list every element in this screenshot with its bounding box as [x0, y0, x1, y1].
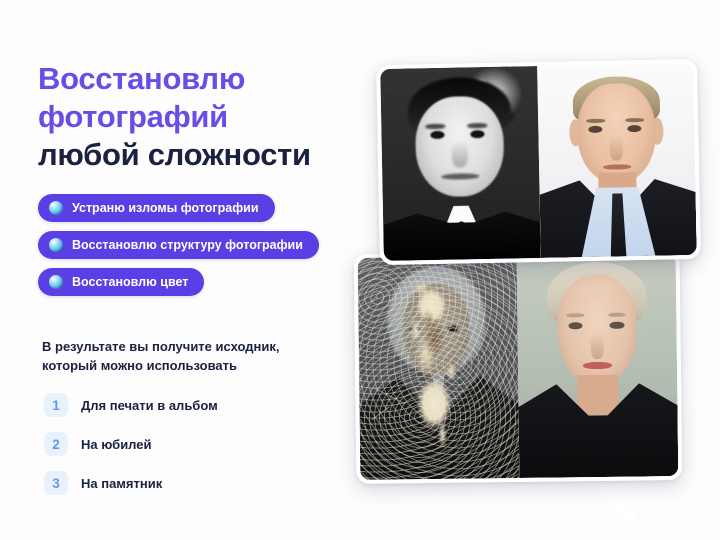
eye-left [430, 131, 444, 139]
use-case-item-3: 3 На памятник [44, 471, 344, 495]
mouth-shape [603, 164, 631, 170]
neck-shape [577, 375, 619, 415]
blue-sphere-icon [49, 201, 63, 215]
use-case-label: На юбилей [81, 437, 152, 452]
feature-pill-3-label: Восстановлю цвет [72, 275, 188, 289]
avito-watermark: Avito [613, 497, 704, 528]
result-line-1: В результате вы получите исходник, [42, 338, 342, 357]
headline-line-2: фотографий [38, 98, 368, 136]
feature-pill-item: Устраню изломы фотографии [38, 194, 319, 231]
feature-pill-item: Восстановлю структуру фотографии [38, 231, 319, 268]
before-after-card-man [376, 59, 701, 265]
brow-left [567, 313, 585, 318]
use-case-label: На памятник [81, 476, 162, 491]
photo-woman-restored [517, 254, 679, 478]
nose-shape [452, 140, 468, 167]
before-after-pair [358, 254, 679, 480]
feature-pill-item: Восстановлю цвет [38, 268, 319, 305]
photo-collage [345, 52, 715, 492]
result-description: В результате вы получите исходник, котор… [42, 338, 342, 376]
face-shape [557, 275, 638, 387]
feature-pill-list: Устраню изломы фотографии Восстановлю ст… [38, 194, 319, 305]
photo-man-damaged [380, 66, 540, 261]
brow-right [467, 123, 487, 128]
nose-shape [591, 333, 604, 360]
use-case-item-1: 1 Для печати в альбом [44, 393, 344, 417]
left-content-column: Восстановлю фотографий любой сложности У… [38, 60, 368, 173]
headline-line-1: Восстановлю [38, 60, 368, 98]
eye-right [610, 321, 624, 329]
before-after-card-woman [354, 250, 683, 484]
ad-creative: Восстановлю фотографий любой сложности У… [0, 0, 720, 540]
avito-logo-icon [613, 500, 639, 526]
use-cases-list: 1 Для печати в альбом 2 На юбилей 3 На п… [44, 393, 344, 510]
brow-left [586, 118, 605, 123]
brow-right [625, 118, 644, 123]
use-case-number-badge: 3 [44, 471, 68, 495]
brow-left [425, 123, 445, 128]
before-after-pair [380, 63, 697, 261]
mouth-shape [583, 361, 612, 368]
blue-sphere-icon [49, 275, 63, 289]
feature-pill-2[interactable]: Восстановлю структуру фотографии [38, 231, 319, 259]
feature-pill-2-label: Восстановлю структуру фотографии [72, 238, 303, 252]
nose-shape [610, 135, 623, 160]
feature-pill-1-label: Устраню изломы фотографии [72, 201, 259, 215]
use-case-number-badge: 1 [44, 393, 68, 417]
result-line-2: который можно использовать [42, 357, 342, 376]
photo-man-restored [537, 63, 697, 258]
avito-wordmark: Avito [642, 497, 704, 528]
use-case-number-badge: 2 [44, 432, 68, 456]
feature-pill-1[interactable]: Устраню изломы фотографии [38, 194, 275, 222]
headline-line-3: любой сложности [38, 136, 368, 174]
page-title: Восстановлю фотографий любой сложности [38, 60, 368, 173]
use-case-item-2: 2 На юбилей [44, 432, 344, 456]
feature-pill-3[interactable]: Восстановлю цвет [38, 268, 204, 296]
photo-woman-damaged [358, 256, 520, 480]
blue-sphere-icon [49, 238, 63, 252]
use-case-label: Для печати в альбом [81, 398, 218, 413]
